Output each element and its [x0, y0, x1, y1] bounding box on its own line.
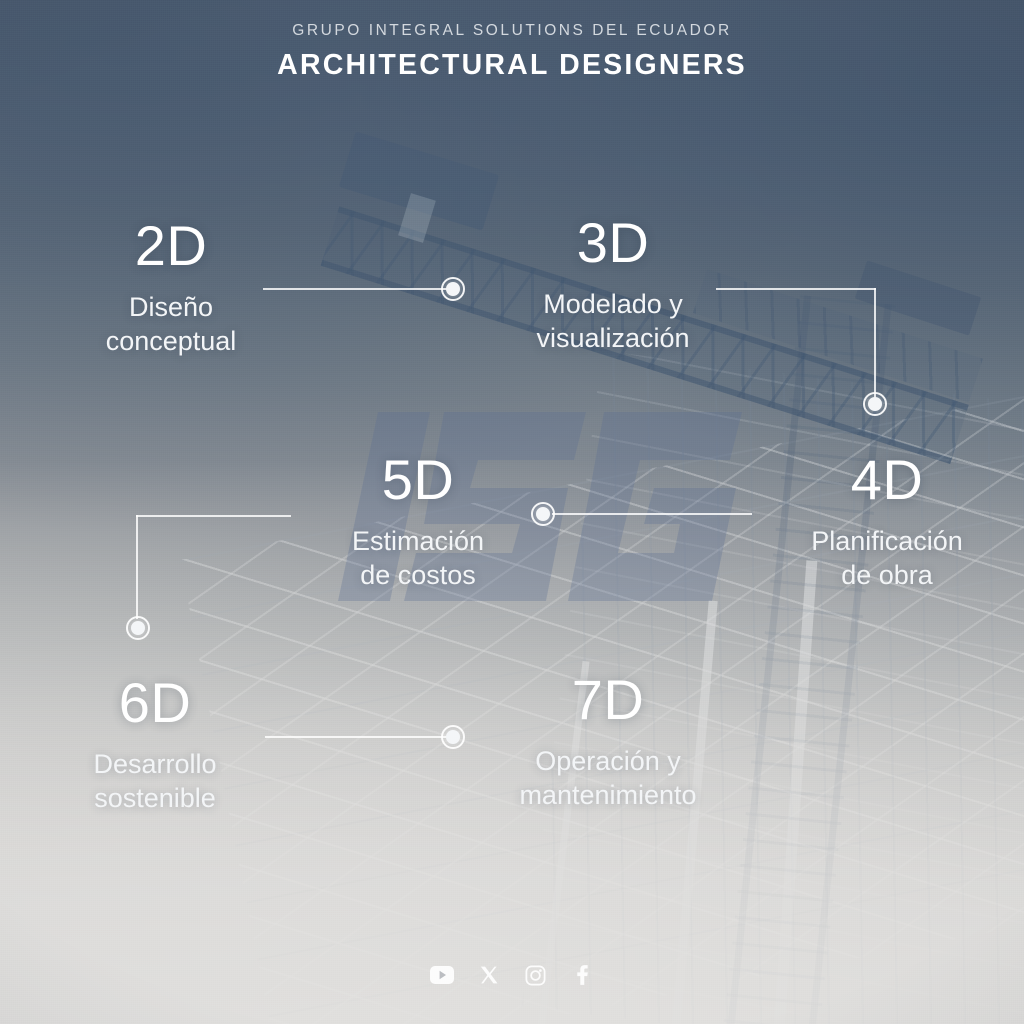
connector-line [263, 288, 451, 290]
facebook-icon[interactable] [570, 962, 596, 988]
dimension-description: Modelado y visualización [495, 287, 731, 355]
connector-line [136, 515, 138, 619]
dimension-number: 2D [58, 218, 284, 274]
dimension-desc-line-1: Desarrollo [28, 747, 282, 781]
infographic-poster: GRUPO INTEGRAL SOLUTIONS DEL ECUADOR ARC… [0, 0, 1024, 1024]
dimension-desc-line-2: mantenimiento [488, 778, 728, 812]
social-links-bar [0, 962, 1024, 988]
x-twitter-icon[interactable] [476, 962, 502, 988]
dimension-block-6d[interactable]: 6D Desarrollo sostenible [28, 675, 282, 815]
dimension-description: Diseño conceptual [58, 290, 284, 358]
dimension-block-3d[interactable]: 3D Modelado y visualización [495, 215, 731, 355]
connector-line [265, 736, 451, 738]
dimension-desc-line-2: sostenible [28, 781, 282, 815]
dimension-description: Desarrollo sostenible [28, 747, 282, 815]
dimension-number: 6D [28, 675, 282, 731]
dimension-desc-line-2: visualización [495, 321, 731, 355]
dimension-description: Operación y mantenimiento [488, 744, 728, 812]
connector-node[interactable] [126, 616, 150, 640]
instagram-icon[interactable] [523, 962, 549, 988]
dimension-number: 4D [762, 452, 1012, 508]
connector-line [874, 288, 876, 404]
dimension-block-2d[interactable]: 2D Diseño conceptual [58, 218, 284, 358]
dimension-desc-line-2: de obra [762, 558, 1012, 592]
dimension-number: 5D [300, 452, 536, 508]
poster-header: GRUPO INTEGRAL SOLUTIONS DEL ECUADOR ARC… [0, 22, 1024, 82]
dimension-desc-line-1: Operación y [488, 744, 728, 778]
connector-line [136, 515, 291, 517]
dimension-description: Estimación de costos [300, 524, 536, 592]
youtube-icon[interactable] [429, 962, 455, 988]
dimension-desc-line-2: de costos [300, 558, 536, 592]
dimension-desc-line-1: Modelado y [495, 287, 731, 321]
connector-line [552, 513, 752, 515]
dimension-number: 7D [488, 672, 728, 728]
dimension-desc-line-1: Estimación [300, 524, 536, 558]
connector-node[interactable] [441, 725, 465, 749]
poster-title: ARCHITECTURAL DESIGNERS [0, 48, 1024, 82]
dimension-block-7d[interactable]: 7D Operación y mantenimiento [488, 672, 728, 812]
dimension-desc-line-2: conceptual [58, 324, 284, 358]
company-name: GRUPO INTEGRAL SOLUTIONS DEL ECUADOR [0, 22, 1024, 41]
connector-line [716, 288, 876, 290]
dimension-description: Planificación de obra [762, 524, 1012, 592]
dimension-block-4d[interactable]: 4D Planificación de obra [762, 452, 1012, 592]
connector-node[interactable] [863, 392, 887, 416]
dimension-number: 3D [495, 215, 731, 271]
dimension-desc-line-1: Diseño [58, 290, 284, 324]
dimension-block-5d[interactable]: 5D Estimación de costos [300, 452, 536, 592]
connector-node[interactable] [441, 277, 465, 301]
dimension-desc-line-1: Planificación [762, 524, 1012, 558]
